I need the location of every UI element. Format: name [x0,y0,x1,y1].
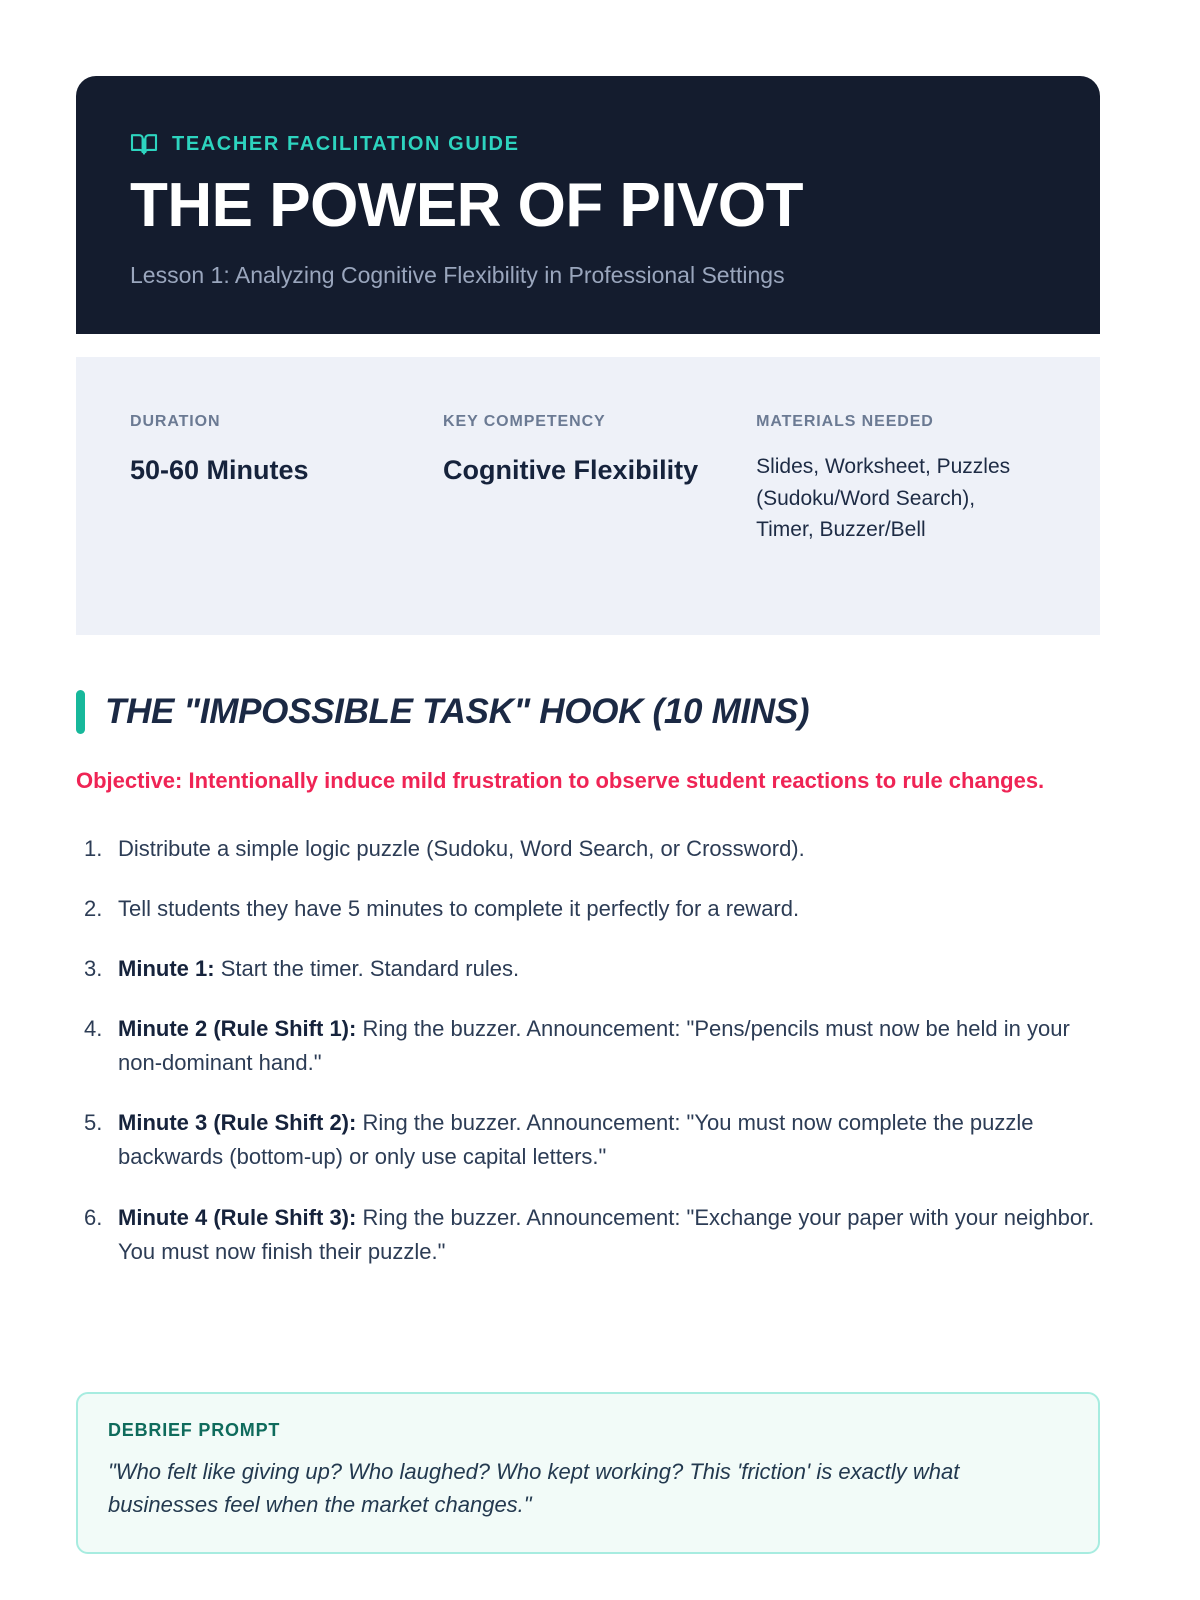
list-item: 4.Minute 2 (Rule Shift 1): Ring the buzz… [76,1012,1100,1080]
meta-value-competency: Cognitive Flexibility [443,451,732,489]
list-item: 2.Tell students they have 5 minutes to c… [76,892,1100,926]
list-item-number: 3. [84,952,102,986]
debrief-callout: DEBRIEF PROMPT "Who felt like giving up?… [76,1392,1100,1554]
meta-item-materials: MATERIALS NEEDED Slides, Worksheet, Puzz… [756,413,1046,546]
list-item-lead: Minute 3 (Rule Shift 2): [118,1110,356,1135]
list-item: 6.Minute 4 (Rule Shift 3): Ring the buzz… [76,1201,1100,1269]
list-item-lead: Minute 1: [118,956,215,981]
section-heading: THE "IMPOSSIBLE TASK" HOOK (10 MINS) [76,690,1100,734]
meta-label-materials: MATERIALS NEEDED [756,413,1022,431]
debrief-quote: "Who felt like giving up? Who laughed? W… [108,1455,1068,1522]
list-item-text: Tell students they have 5 minutes to com… [118,896,799,921]
list-item-text: Distribute a simple logic puzzle (Sudoku… [118,836,805,861]
guide-eyebrow-label: TEACHER FACILITATION GUIDE [172,134,520,154]
section-objective: Objective: Intentionally induce mild fru… [76,764,1080,798]
meta-value-materials: Slides, Worksheet, Puzzles (Sudoku/Word … [756,451,1022,546]
meta-label-competency: KEY COMPETENCY [443,413,732,431]
section-title: THE "IMPOSSIBLE TASK" HOOK (10 MINS) [105,690,809,734]
meta-value-duration: 50-60 Minutes [130,451,419,489]
list-item-number: 2. [84,892,102,926]
list-item-lead: Minute 2 (Rule Shift 1): [118,1016,356,1041]
page-title: THE POWER OF PIVOT [130,174,1046,238]
meta-item-competency: KEY COMPETENCY Cognitive Flexibility [443,413,756,489]
list-item-number: 6. [84,1201,102,1235]
list-item-number: 1. [84,832,102,866]
lesson-meta-bar: DURATION 50-60 Minutes KEY COMPETENCY Co… [76,357,1100,635]
guide-header-card: TEACHER FACILITATION GUIDE THE POWER OF … [76,76,1100,334]
meta-label-duration: DURATION [130,413,419,431]
debrief-label: DEBRIEF PROMPT [108,1420,1068,1441]
list-item: 1.Distribute a simple logic puzzle (Sudo… [76,832,1100,866]
list-item-number: 4. [84,1012,102,1046]
open-book-icon [130,132,158,156]
list-item-lead: Minute 4 (Rule Shift 3): [118,1205,356,1230]
step-list: 1.Distribute a simple logic puzzle (Sudo… [76,832,1100,1269]
meta-item-duration: DURATION 50-60 Minutes [130,413,443,489]
guide-eyebrow: TEACHER FACILITATION GUIDE [130,132,1046,156]
page-subtitle: Lesson 1: Analyzing Cognitive Flexibilit… [130,260,1046,291]
list-item: 3.Minute 1: Start the timer. Standard ru… [76,952,1100,986]
section-accent-bar [76,690,85,734]
lesson-guide-page: TEACHER FACILITATION GUIDE THE POWER OF … [0,0,1200,1600]
list-item: 5.Minute 3 (Rule Shift 2): Ring the buzz… [76,1106,1100,1174]
list-item-text: Start the timer. Standard rules. [221,956,519,981]
list-item-number: 5. [84,1106,102,1140]
hook-section: THE "IMPOSSIBLE TASK" HOOK (10 MINS) Obj… [76,690,1100,1269]
